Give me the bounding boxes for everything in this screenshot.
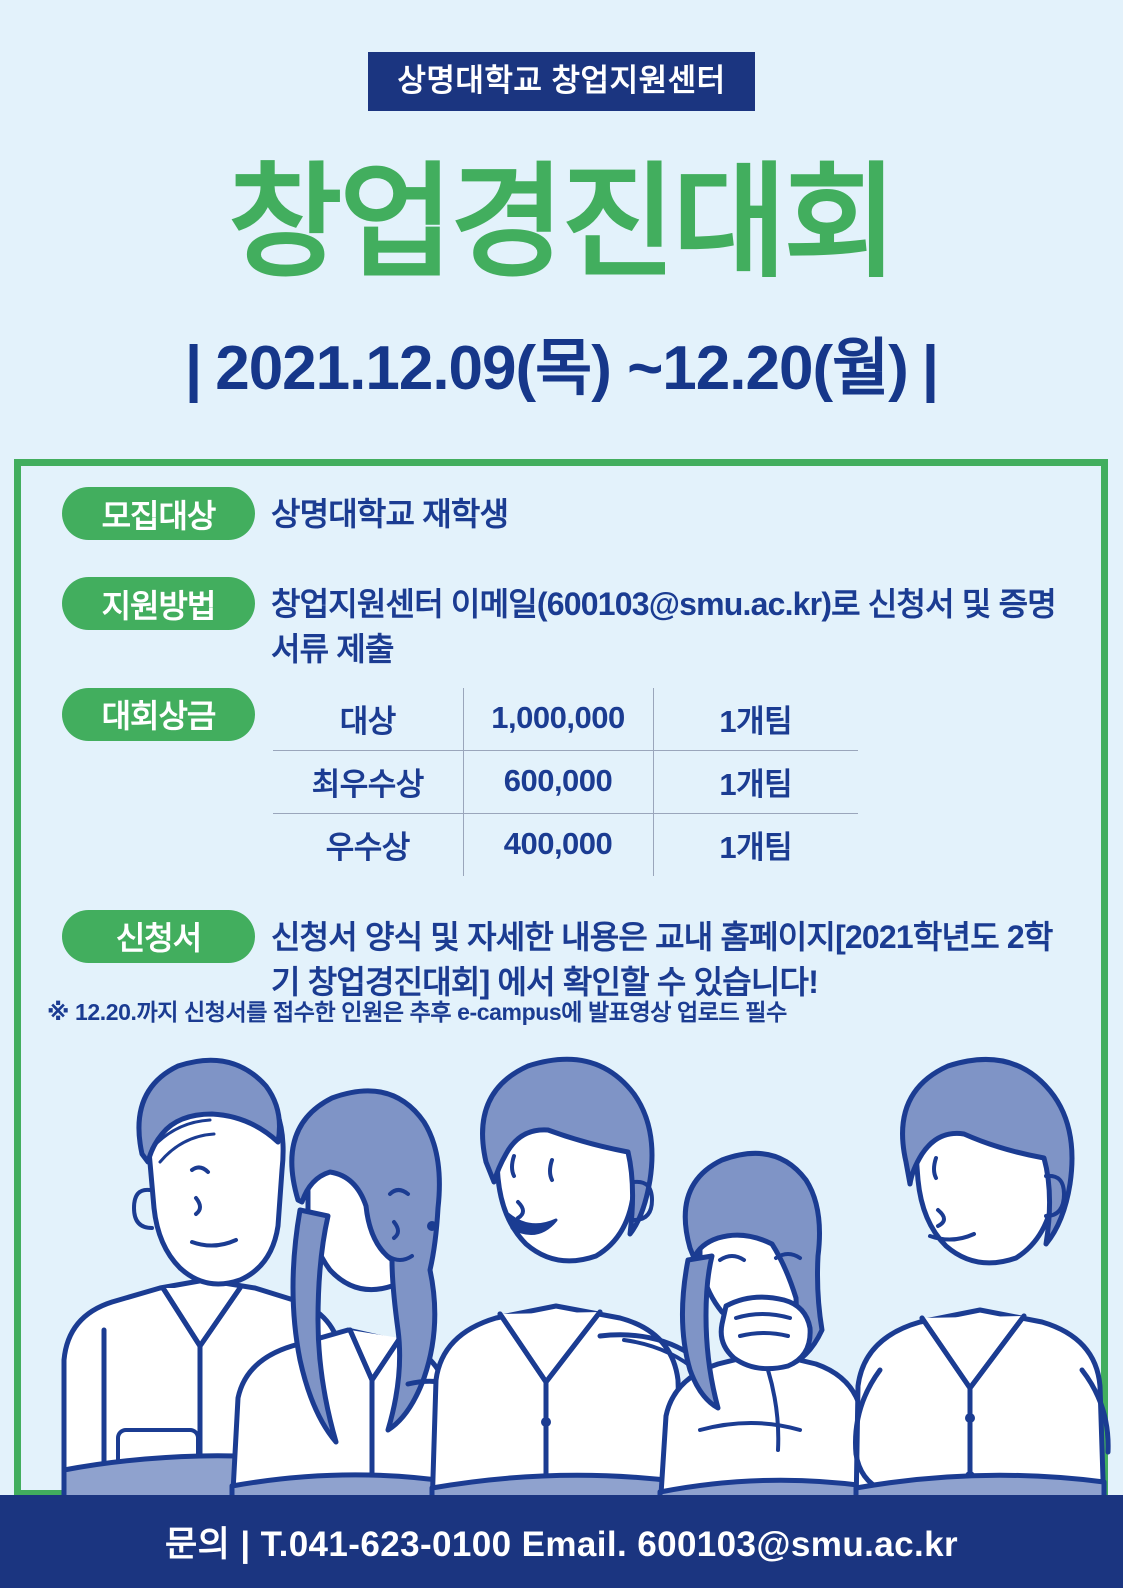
prize-award: 우수상: [273, 813, 463, 876]
students-illustration: [0, 1030, 1123, 1510]
date-left-bar-icon: |: [185, 330, 201, 408]
prize-amount: 600,000: [463, 750, 653, 813]
info-block: 모집대상 상명대학교 재학생 지원방법 창업지원센터 이메일(600103@sm…: [62, 487, 1072, 1006]
header-badge-wrap: 상명대학교 창업지원센터: [0, 52, 1123, 111]
contact-footer: 문의 | T.041-623-0100 Email. 600103@smu.ac…: [0, 1495, 1123, 1588]
prize-award: 최우수상: [273, 750, 463, 813]
prize-teams: 1개팀: [653, 750, 858, 813]
info-value-target: 상명대학교 재학생: [255, 487, 508, 537]
footnote-text: ※ 12.20.까지 신청서를 접수한 인원은 추후 e-campus에 발표영…: [47, 993, 787, 1027]
table-row: 우수상 400,000 1개팀: [273, 813, 858, 876]
event-date-text: 2021.12.09(목) ~12.20(월): [215, 334, 908, 403]
table-row: 대상 1,000,000 1개팀: [273, 688, 858, 751]
prize-award: 대상: [273, 688, 463, 751]
organizer-badge: 상명대학교 창업지원센터: [368, 52, 754, 111]
pill-label-apply: 지원방법: [62, 577, 255, 630]
poster-root: 상명대학교 창업지원센터 창업경진대회 |2021.12.09(목) ~12.2…: [0, 0, 1123, 1588]
prize-amount: 1,000,000: [463, 688, 653, 751]
info-row-apply: 지원방법 창업지원센터 이메일(600103@smu.ac.kr)로 신청서 및…: [62, 577, 1072, 673]
pill-label-prize: 대회상금: [62, 688, 255, 741]
page-title: 창업경진대회: [0, 150, 1123, 296]
prize-amount: 400,000: [463, 813, 653, 876]
event-date-line: |2021.12.09(목) ~12.20(월)|: [0, 330, 1123, 408]
info-value-apply: 창업지원센터 이메일(600103@smu.ac.kr)로 신청서 및 증명 서…: [255, 577, 1061, 673]
prize-teams: 1개팀: [653, 813, 858, 876]
date-right-bar-icon: |: [922, 330, 938, 408]
info-value-form: 신청서 양식 및 자세한 내용은 교내 홈페이지[2021학년도 2학기 창업경…: [255, 910, 1061, 1006]
students-illustration-svg: [0, 1030, 1123, 1510]
pill-label-target: 모집대상: [62, 487, 255, 540]
info-row-prize: 대회상금 대상 1,000,000 1개팀 최우수상 600,000 1개팀: [62, 688, 1072, 876]
info-row-form: 신청서 신청서 양식 및 자세한 내용은 교내 홈페이지[2021학년도 2학기…: [62, 910, 1072, 1006]
prize-table: 대상 1,000,000 1개팀 최우수상 600,000 1개팀 우수상 40…: [273, 688, 858, 876]
pill-label-form: 신청서: [62, 910, 255, 963]
table-row: 최우수상 600,000 1개팀: [273, 750, 858, 813]
info-row-target: 모집대상 상명대학교 재학생: [62, 487, 1072, 540]
contact-text: 문의 | T.041-623-0100 Email. 600103@smu.ac…: [165, 1516, 958, 1567]
prize-teams: 1개팀: [653, 688, 858, 751]
